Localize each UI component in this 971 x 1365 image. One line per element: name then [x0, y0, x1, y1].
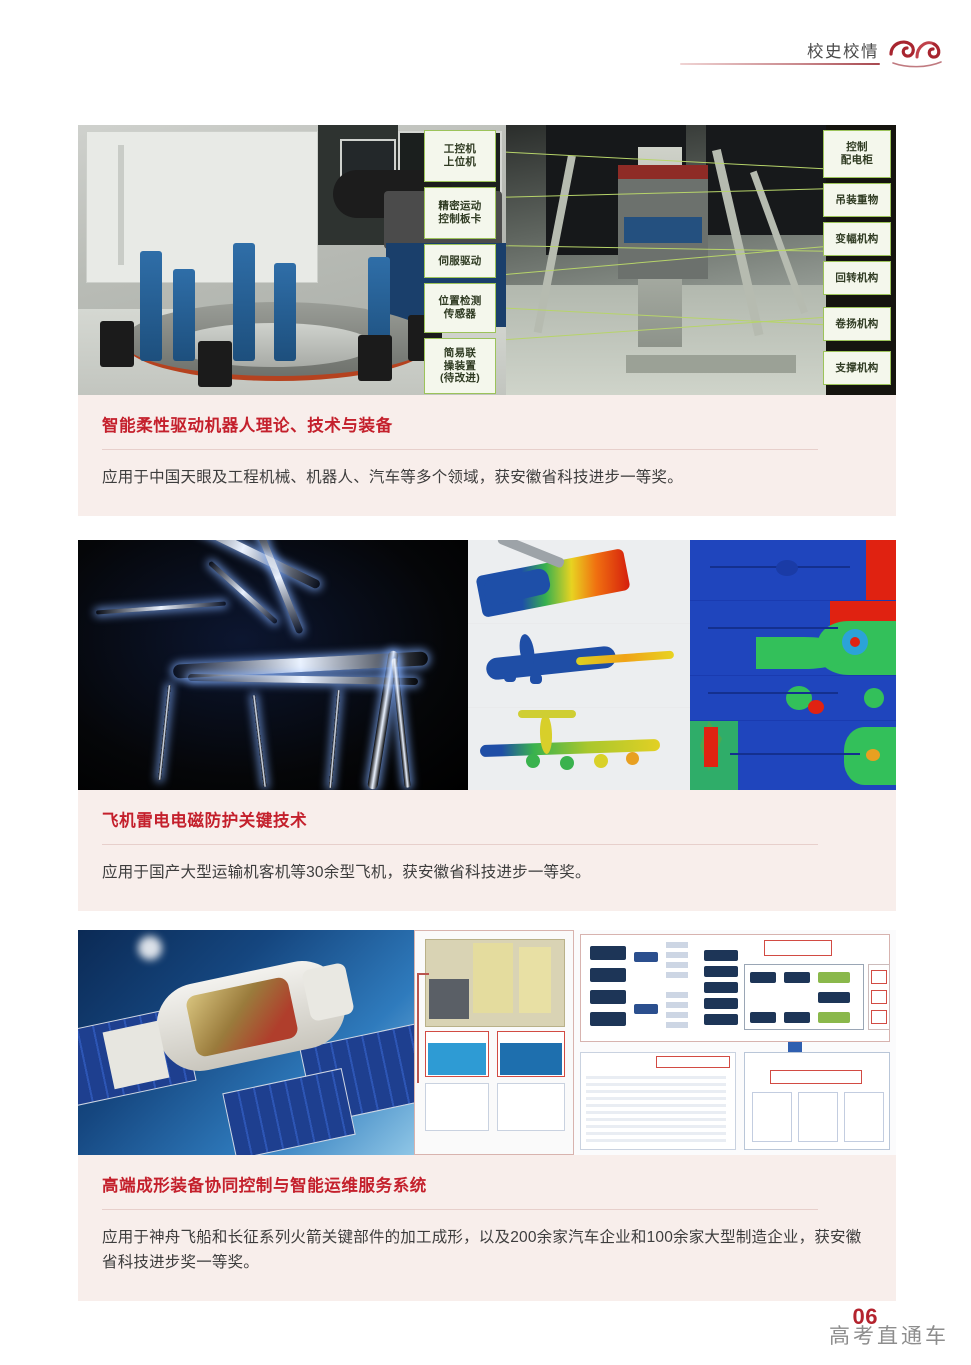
header-rule — [680, 63, 880, 65]
section-robotics-media: 工控机 上位机 精密运动 控制板卡 伺服驱动 位置检测 传感器 简易联 操装置 … — [78, 125, 896, 395]
spacecraft-cutaway-image — [78, 930, 414, 1155]
section-forming-description: 应用于神舟飞船和长征系列火箭关键部件的加工成形，以及200余家汽车企业和100余… — [102, 1225, 872, 1275]
section-lightning-description: 应用于国产大型运输机客机等30余型飞机，获安徽省科技进步一等奖。 — [102, 860, 872, 885]
section-lightning-media — [78, 540, 896, 790]
callout-text: 吊装重物 — [835, 194, 878, 207]
callout-text: 工控机 上位机 — [444, 143, 476, 169]
callout-slewing-mechanism: 回转机构 — [823, 261, 891, 295]
header-title: 校史校情 — [807, 38, 879, 62]
cloud-swirl-logo-icon — [887, 30, 949, 70]
card-divider — [102, 1209, 818, 1210]
section-robotics-description: 应用于中国天眼及工程机械、机器人、汽车等多个领域，获安徽省科技进步一等奖。 — [102, 465, 872, 490]
callout-support-mechanism: 支撑机构 — [823, 351, 891, 385]
footer-brand: 高考直通车 — [829, 1320, 949, 1350]
section-forming: 高端成形装备协同控制与智能运维服务系统 应用于神舟飞船和长征系列火箭关键部件的加… — [78, 930, 896, 1301]
callout-plc-host: 工控机 上位机 — [424, 130, 496, 182]
section-lightning: 飞机雷电电磁防护关键技术 应用于国产大型运输机客机等30余型飞机，获安徽省科技进… — [78, 540, 896, 911]
section-robotics-card: 智能柔性驱动机器人理论、技术与装备 应用于中国天眼及工程机械、机器人、汽车等多个… — [78, 395, 896, 516]
section-robotics: 工控机 上位机 精密运动 控制板卡 伺服驱动 位置检测 传感器 简易联 操装置 … — [78, 125, 896, 516]
callout-text: 控制 配电柜 — [841, 141, 873, 167]
card-divider — [102, 844, 818, 845]
section-forming-media — [78, 930, 896, 1155]
callout-text: 回转机构 — [835, 272, 878, 285]
callout-text: 卷扬机构 — [835, 318, 878, 331]
section-robotics-title: 智能柔性驱动机器人理论、技术与装备 — [102, 417, 872, 437]
callout-text: 支撑机构 — [835, 362, 878, 375]
callout-text: 简易联 操装置 (待改进) — [440, 347, 480, 385]
callout-text: 位置检测 传感器 — [438, 295, 481, 321]
section-lightning-card: 飞机雷电电磁防护关键技术 应用于国产大型运输机客机等30余型飞机，获安徽省科技进… — [78, 790, 896, 911]
callout-text: 变幅机构 — [835, 233, 878, 246]
crane-rig-image — [506, 125, 826, 395]
section-forming-title: 高端成形装备协同控制与智能运维服务系统 — [102, 1177, 872, 1197]
callout-servo-drive: 伺服驱动 — [424, 244, 496, 278]
callout-motion-control-card: 精密运动 控制板卡 — [424, 187, 496, 239]
page-footer: 06 高考直通车 — [0, 1300, 971, 1365]
lightning-discharge-image — [78, 540, 468, 790]
callout-control-cabinet: 控制 配电柜 — [823, 130, 891, 178]
callout-hoisting-mechanism: 卷扬机构 — [823, 307, 891, 341]
control-architecture-flowchart — [574, 930, 896, 1155]
callout-simple-joystick: 简易联 操装置 (待改进) — [424, 338, 496, 394]
callout-lifted-load: 吊装重物 — [823, 183, 891, 217]
callout-text: 伺服驱动 — [438, 255, 481, 268]
callout-position-sensor: 位置检测 传感器 — [424, 283, 496, 333]
aircraft-cfd-renders-image — [468, 540, 690, 790]
callout-text: 精密运动 控制板卡 — [438, 200, 481, 226]
electromagnetic-heatmap-image — [690, 540, 896, 790]
equipment-monitoring-diagram — [414, 930, 574, 1155]
card-divider — [102, 449, 818, 450]
section-forming-card: 高端成形装备协同控制与智能运维服务系统 应用于神舟飞船和长征系列火箭关键部件的加… — [78, 1155, 896, 1301]
callout-luffing-mechanism: 变幅机构 — [823, 222, 891, 256]
page-header: 校史校情 — [0, 0, 971, 100]
section-lightning-title: 飞机雷电电磁防护关键技术 — [102, 812, 872, 832]
